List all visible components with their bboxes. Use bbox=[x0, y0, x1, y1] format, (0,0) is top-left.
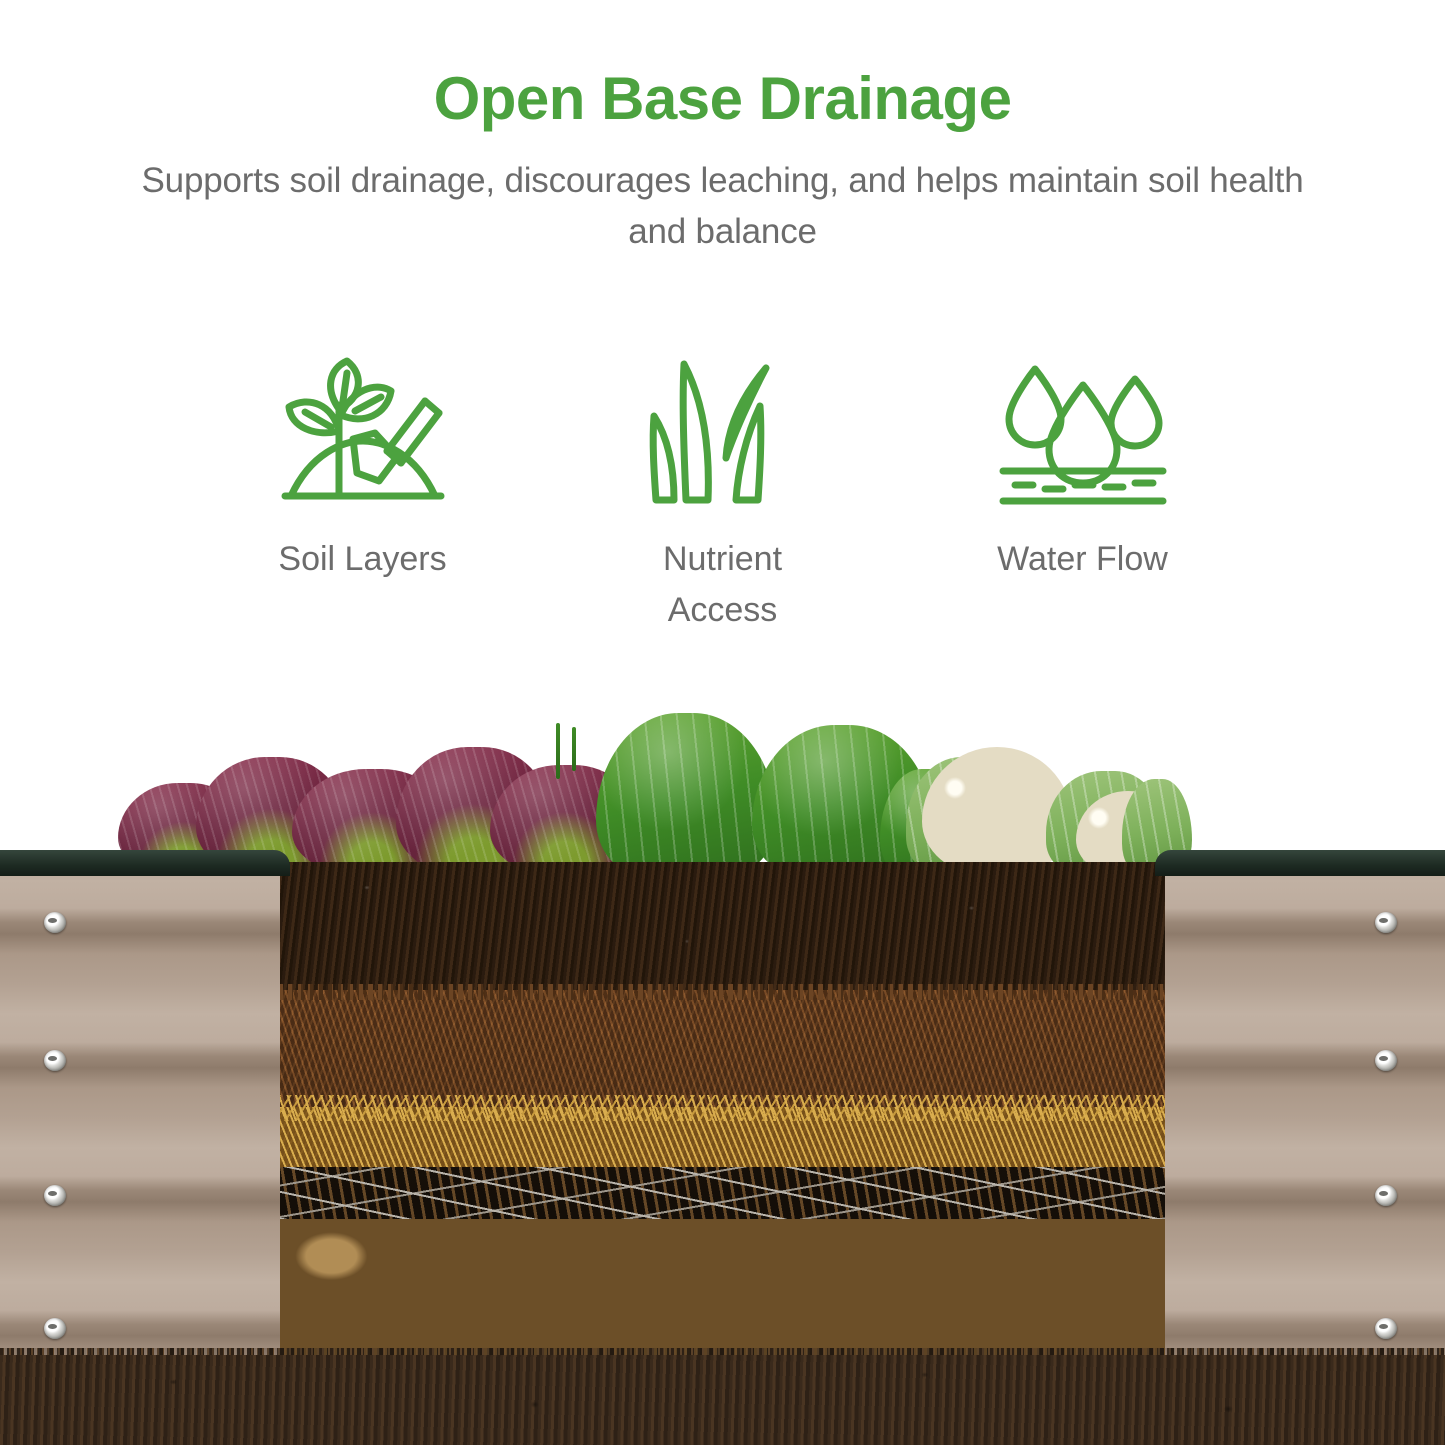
page-subtitle: Supports soil drainage, discourages leac… bbox=[123, 156, 1323, 258]
soil-layer-twigs bbox=[278, 1167, 1167, 1219]
screw-icon bbox=[1375, 912, 1397, 933]
feature-item-nutrient-access: Nutrient Access bbox=[543, 352, 903, 636]
page-title: Open Base Drainage bbox=[0, 66, 1445, 132]
feature-list: Soil Layers Nutrient Access bbox=[0, 352, 1445, 636]
bed-rim-left bbox=[0, 850, 290, 876]
soil-cross-section bbox=[278, 862, 1167, 1362]
sprout-stem bbox=[556, 723, 560, 779]
bed-rim-right bbox=[1155, 850, 1445, 876]
corrugated-metal-panel-right bbox=[1165, 850, 1445, 1362]
screw-icon bbox=[1375, 1318, 1397, 1339]
product-feature-graphic: Open Base Drainage Supports soil drainag… bbox=[0, 0, 1445, 1445]
plant-row bbox=[0, 700, 1445, 875]
header: Open Base Drainage Supports soil drainag… bbox=[0, 0, 1445, 258]
grass-blades-icon bbox=[648, 352, 798, 512]
green-romaine-lettuce bbox=[596, 713, 776, 875]
screw-icon bbox=[1375, 1185, 1397, 1206]
soil-layer-logs bbox=[278, 1219, 1167, 1362]
screw-icon bbox=[44, 1050, 66, 1071]
feature-label: Nutrient Access bbox=[608, 534, 838, 636]
corrugated-metal-panel-left bbox=[0, 850, 280, 1362]
plant-shovel-icon bbox=[275, 352, 451, 512]
feature-label: Water Flow bbox=[997, 534, 1168, 585]
soil-layer-compost-mulch bbox=[278, 990, 1167, 1107]
screw-icon bbox=[1375, 1050, 1397, 1071]
feature-item-water-flow: Water Flow bbox=[903, 352, 1263, 636]
raised-garden-bed-scene bbox=[0, 700, 1445, 1445]
soil-layer-straw bbox=[278, 1107, 1167, 1167]
water-drops-icon bbox=[995, 352, 1171, 512]
soil-layer-topsoil bbox=[278, 862, 1167, 990]
screw-icon bbox=[44, 1185, 66, 1206]
screw-icon bbox=[44, 912, 66, 933]
feature-item-soil-layers: Soil Layers bbox=[183, 352, 543, 636]
screw-icon bbox=[44, 1318, 66, 1339]
sprout-stem bbox=[572, 727, 576, 771]
feature-label: Soil Layers bbox=[278, 534, 446, 585]
ground-soil bbox=[0, 1355, 1445, 1445]
